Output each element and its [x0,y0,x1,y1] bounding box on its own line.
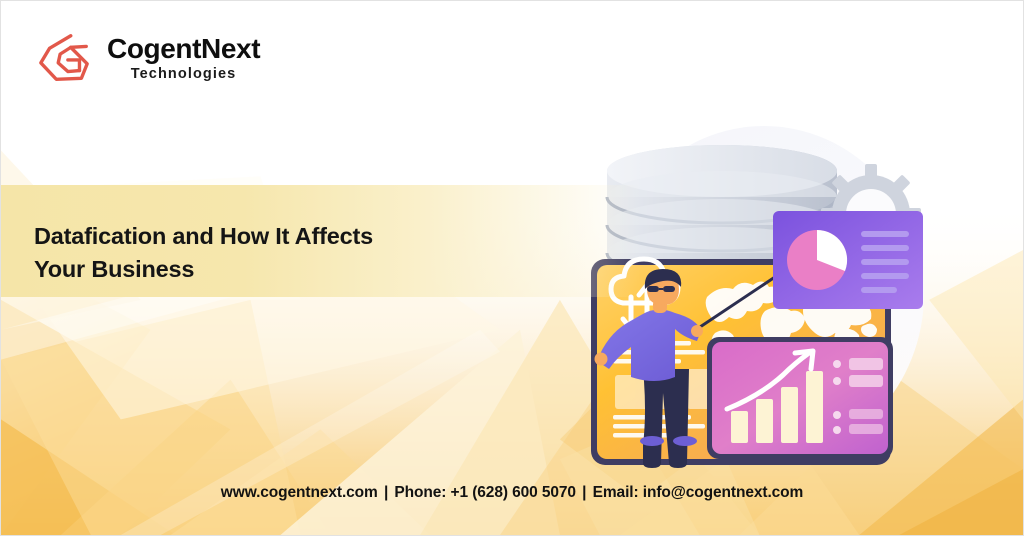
page-title: Datafication and How It Affects Your Bus… [34,220,504,287]
logo-brand-name: CogentNext [107,35,260,63]
brand-logo[interactable]: CogentNext Technologies [35,29,260,87]
title-line-1: Datafication and How It Affects [34,220,504,253]
footer-phone[interactable]: Phone: +1 (628) 600 5070 [394,484,576,501]
footer-website[interactable]: www.cogentnext.com [221,484,378,501]
pie-chart-card [773,211,923,309]
footer-separator-2: | [576,484,593,501]
title-line-2: Your Business [34,253,504,286]
bar-chart-card [707,337,893,459]
logo-wordmark: CogentNext Technologies [107,35,260,82]
footer-email[interactable]: Email: info@cogentnext.com [593,484,804,501]
blog-banner: CogentNext Technologies Datafication and… [0,0,1024,536]
footer-separator-1: | [378,484,395,501]
footer-contact-bar: www.cogentnext.com | Phone: +1 (628) 600… [1,484,1023,502]
cogentnext-cg-monogram-icon [35,29,93,87]
logo-tagline: Technologies [107,67,260,82]
